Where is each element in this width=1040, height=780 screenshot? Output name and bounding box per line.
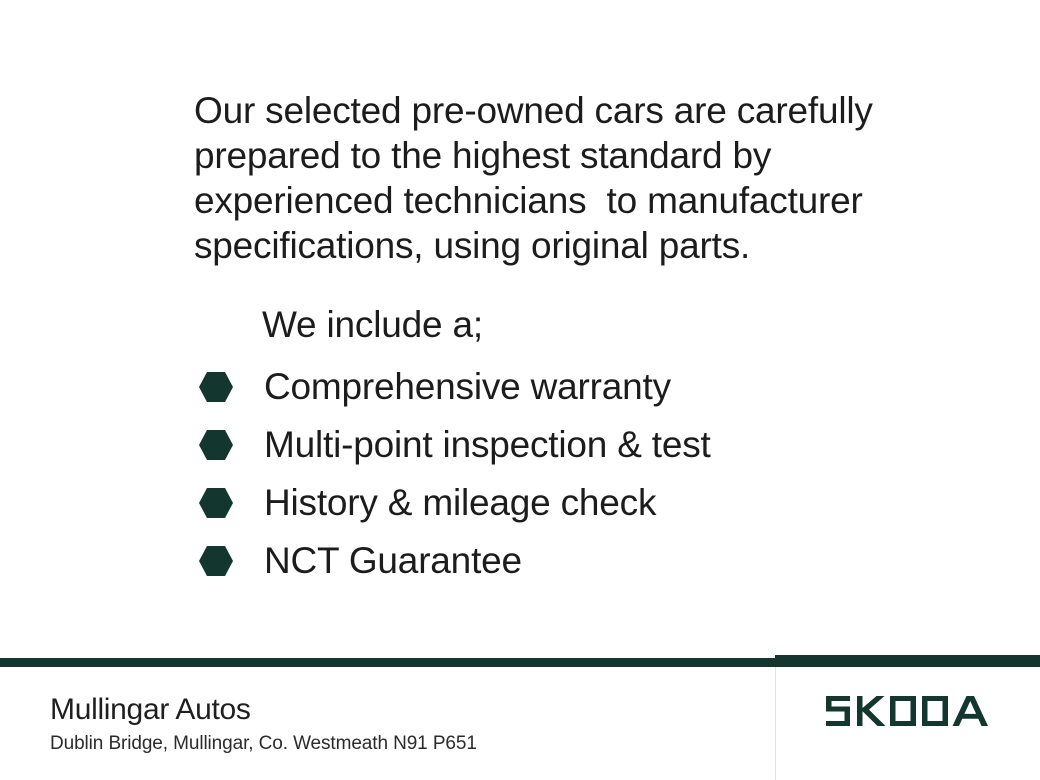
feature-label: Multi-point inspection & test [264, 425, 711, 465]
intro-line-2: prepared to the highest standard by [194, 133, 894, 178]
hexagon-bullet-icon [198, 545, 234, 577]
intro-line-3: experienced technicians to manufacturer [194, 178, 894, 223]
feature-label: History & mileage check [264, 483, 656, 523]
hexagon-bullet-icon [198, 371, 234, 403]
feature-list: Comprehensive warranty Multi-point inspe… [198, 358, 898, 590]
list-item: History & mileage check [198, 474, 898, 532]
feature-label: NCT Guarantee [264, 541, 522, 581]
feature-label: Comprehensive warranty [264, 367, 671, 407]
include-lead-text: We include a; [262, 302, 483, 347]
dealer-address: Dublin Bridge, Mullingar, Co. Westmeath … [50, 732, 750, 756]
hexagon-bullet-icon [198, 429, 234, 461]
intro-paragraph: Our selected pre-owned cars are carefull… [194, 88, 894, 268]
dealer-name: Mullingar Autos [50, 692, 750, 728]
list-item: NCT Guarantee [198, 532, 898, 590]
skoda-wordmark-icon [826, 696, 988, 726]
list-item: Multi-point inspection & test [198, 416, 898, 474]
hexagon-bullet-icon [198, 487, 234, 519]
intro-line-1: Our selected pre-owned cars are carefull… [194, 88, 894, 133]
footer-vertical-divider [775, 667, 776, 780]
list-item: Comprehensive warranty [198, 358, 898, 416]
dealer-details: Mullingar Autos Dublin Bridge, Mullingar… [50, 692, 750, 756]
promo-slide: Our selected pre-owned cars are carefull… [0, 0, 1040, 780]
footer-rule-right-segment [775, 655, 1040, 667]
intro-line-4: specifications, using original parts. [194, 223, 894, 268]
